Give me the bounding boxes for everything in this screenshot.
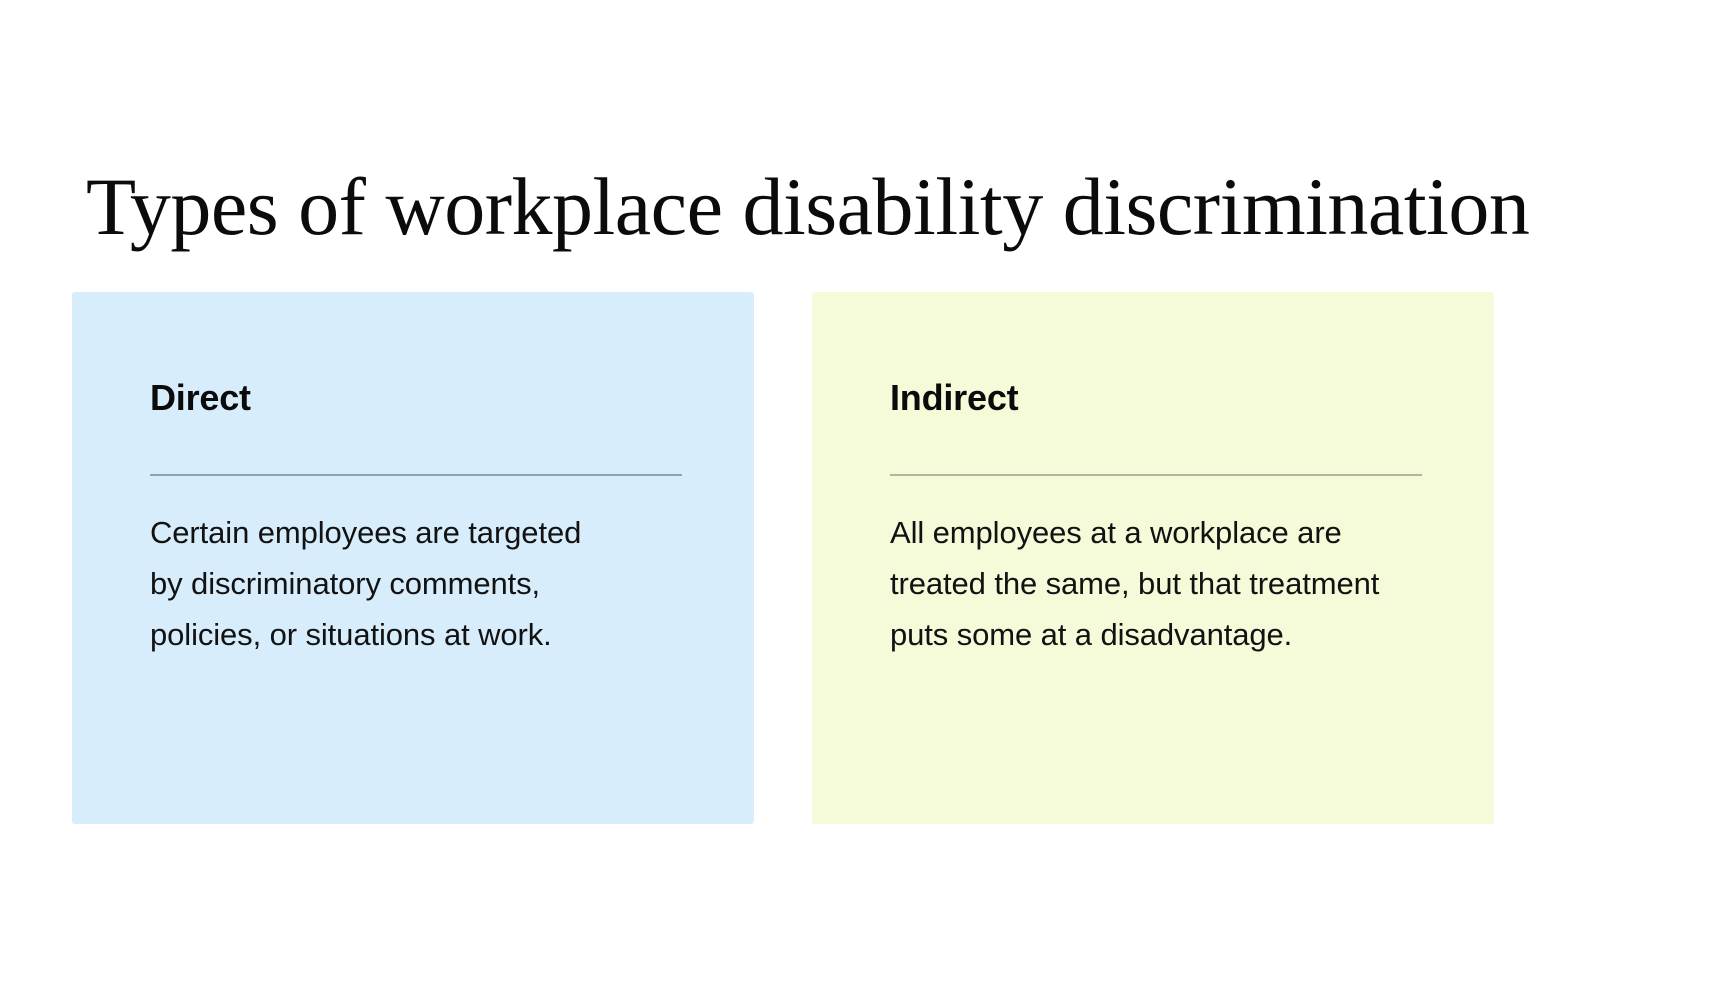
card-direct-divider [150,474,682,476]
slide-canvas: Types of workplace disability discrimina… [0,0,1725,988]
comparison-cards-row: Direct Certain employees are targeted by… [72,292,1494,824]
card-indirect-heading: Indirect [890,378,1424,418]
card-direct-heading: Direct [150,378,684,418]
card-indirect-body: All employees at a workplace are treated… [890,507,1410,660]
card-indirect-divider [890,474,1422,476]
page-title: Types of workplace disability discrimina… [86,163,1656,252]
card-direct-body: Certain employees are targeted by discri… [150,507,620,660]
card-direct: Direct Certain employees are targeted by… [72,292,754,824]
card-indirect: Indirect All employees at a workplace ar… [812,292,1494,824]
